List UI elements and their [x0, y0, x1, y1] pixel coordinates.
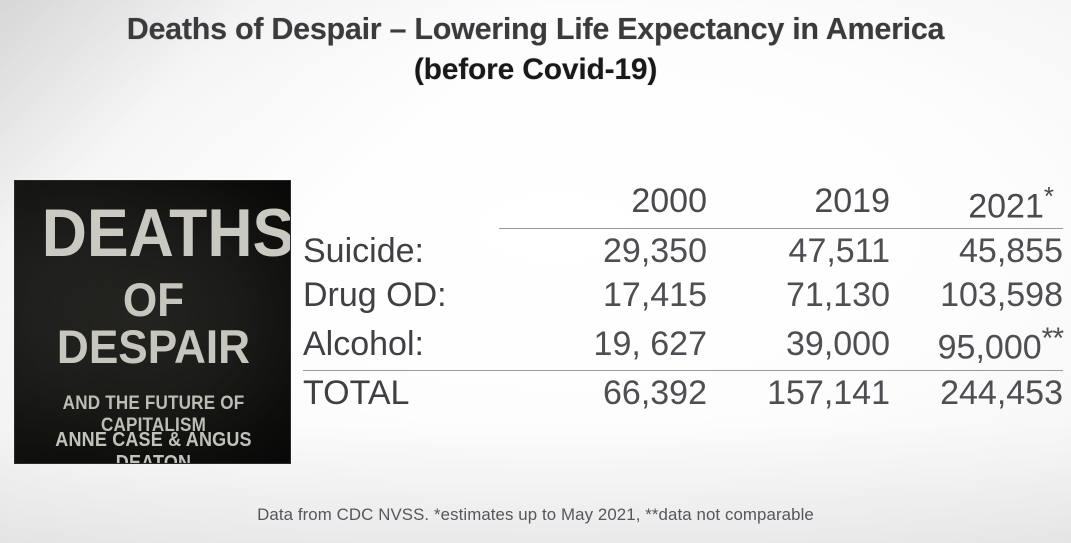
cell-total-2021: 244,453 — [890, 370, 1063, 415]
cell-suicide-2021: 45,855 — [890, 229, 1063, 274]
table-row: Suicide: 29,350 47,511 45,855 — [303, 229, 1063, 274]
cell-total-2019: 157,141 — [707, 370, 890, 415]
book-cover-authors: ANNE CASE & ANGUS DEATON — [38, 429, 269, 464]
cell-drug-od-2000: 17,415 — [499, 273, 707, 317]
table-row: Drug OD: 17,415 71,130 103,598 — [303, 273, 1063, 317]
table-body: Suicide: 29,350 47,511 45,855 Drug OD: 1… — [303, 229, 1063, 415]
deaths-of-despair-table: 2000 2019 2021* Suicide: 29,350 47,511 4… — [303, 174, 1063, 415]
cell-alcohol-2021-asterisks: ** — [1042, 322, 1063, 355]
row-label-total: TOTAL — [303, 370, 499, 415]
slide-canvas: Deaths of Despair – Lowering Life Expect… — [0, 0, 1071, 543]
cell-alcohol-2000: 19, 627 — [499, 317, 707, 370]
title-line-1: Deaths of Despair – Lowering Life Expect… — [8, 8, 1063, 50]
row-label-drug-od: Drug OD: — [303, 273, 499, 317]
cell-alcohol-2019: 39,000 — [707, 317, 890, 370]
table-row: Alcohol: 19, 627 39,000 95,000** — [303, 317, 1063, 370]
cell-drug-od-2019: 71,130 — [707, 273, 890, 317]
cell-alcohol-2021: 95,000** — [890, 317, 1063, 370]
cell-alcohol-2021-value: 95,000 — [938, 329, 1042, 367]
row-label-alcohol: Alcohol: — [303, 317, 499, 370]
book-cover-title-despair: OF DESPAIR — [39, 276, 267, 370]
title-line-2: (before Covid-19) — [0, 50, 1071, 91]
footnote-source-note: Data from CDC NVSS. *estimates up to May… — [5, 505, 1065, 525]
deaths-table-container: 2000 2019 2021* Suicide: 29,350 47,511 4… — [303, 174, 1063, 415]
page-title: Deaths of Despair – Lowering Life Expect… — [0, 8, 1071, 90]
column-header-2019: 2019 — [707, 174, 890, 229]
table-header: 2000 2019 2021* — [303, 174, 1063, 229]
column-header-2021: 2021* — [890, 174, 1063, 229]
column-header-2021-text: 2021 — [968, 187, 1044, 225]
table-row: TOTAL 66,392 157,141 244,453 — [303, 370, 1063, 415]
row-label-suicide: Suicide: — [303, 229, 499, 274]
book-cover-image: DEATHS OF DESPAIR AND THE FUTURE OF CAPI… — [14, 180, 291, 464]
cell-total-2000: 66,392 — [499, 370, 707, 415]
cell-drug-od-2021: 103,598 — [890, 273, 1063, 317]
cell-suicide-2000: 29,350 — [499, 229, 707, 274]
column-header-2021-asterisk: * — [1044, 181, 1053, 211]
cell-suicide-2019: 47,511 — [707, 229, 890, 274]
column-header-blank — [303, 174, 499, 229]
column-header-2000: 2000 — [499, 174, 707, 229]
book-cover-title-deaths: DEATHS — [42, 199, 266, 267]
